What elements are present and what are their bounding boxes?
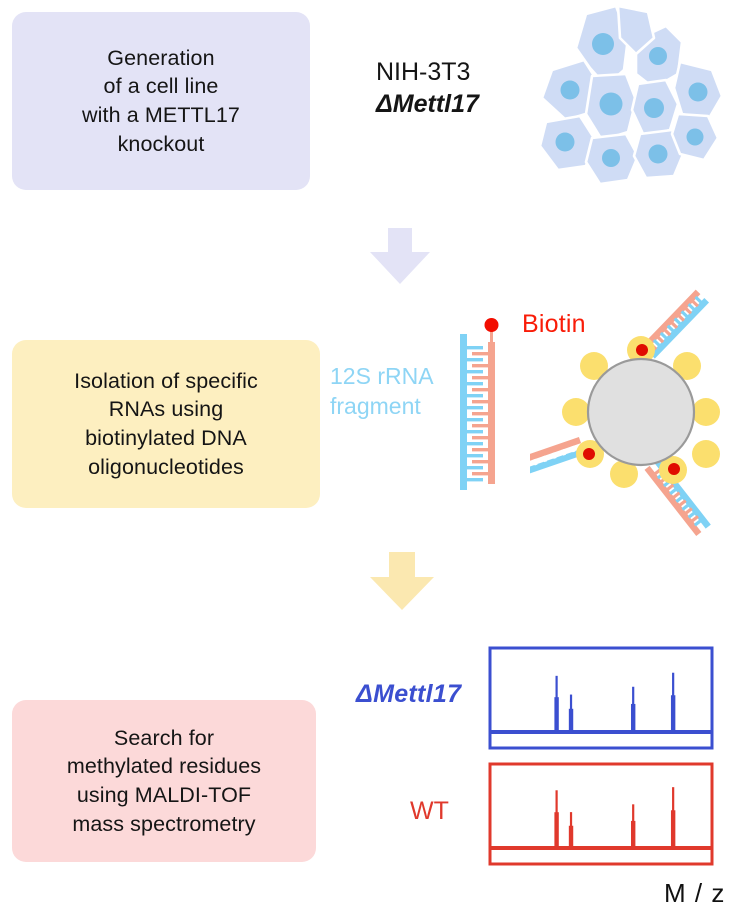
fibroblast-cells-icon: [532, 4, 728, 190]
step-isolation-text: Isolation of specific RNAs using biotiny…: [74, 367, 258, 481]
spectrum-label-wt: WT: [410, 797, 449, 826]
rna-dna-duplex-icon: [446, 316, 526, 506]
step-generation-text: Generation of a cell line with a METTL17…: [82, 44, 240, 158]
rna-fragment-label: 12S rRNA fragment: [330, 362, 462, 422]
cell-line-label: NIH-3T3 ΔMettl17: [376, 56, 544, 120]
step-box-search: Search for methylated residues using MAL…: [12, 700, 316, 862]
step-search-text: Search for methylated residues using MAL…: [67, 724, 261, 838]
step-box-isolation: Isolation of specific RNAs using biotiny…: [12, 340, 320, 508]
arrow-down-icon: [368, 552, 436, 612]
cell-line-name: NIH-3T3: [376, 56, 544, 88]
mz-axis-label: M / z: [664, 878, 725, 909]
step-box-generation: Generation of a cell line with a METTL17…: [12, 12, 310, 190]
arrow-down-2: [368, 552, 436, 612]
spectrum-label-ko: ΔMettl17: [356, 680, 461, 709]
free-duplex-illustration: [446, 316, 526, 506]
arrow-down-1: [368, 228, 432, 286]
bead-icon: [530, 288, 738, 550]
mass-spectrum-wt: [486, 760, 716, 870]
cell-line-genotype: ΔMettl17: [376, 88, 544, 120]
mass-spectrum-ko: [486, 644, 716, 754]
arrow-down-icon: [368, 228, 432, 286]
figure-canvas: Generation of a cell line with a METTL17…: [0, 0, 738, 920]
cell-cluster-illustration: [532, 4, 728, 190]
spectrum-panel-ko: [486, 644, 716, 754]
rna-fragment-text: 12S rRNA fragment: [330, 363, 434, 419]
streptavidin-bead-illustration: [530, 288, 738, 550]
spectrum-panel-wt: [486, 760, 716, 870]
